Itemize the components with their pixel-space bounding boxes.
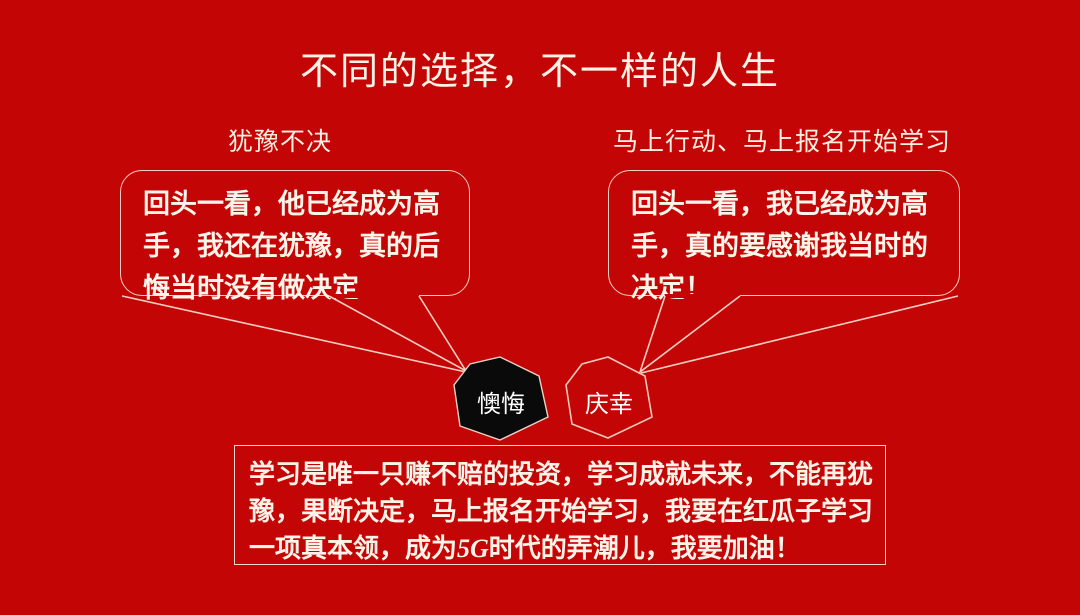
node-label-right: 庆幸 [566, 384, 652, 419]
node-label-left: 懊悔 [458, 384, 544, 419]
bubble-left-tail [329, 296, 466, 371]
summary-box: 学习是唯一只赚不赔的投资，学习成就未来，不能再犹豫，果断决定，马上报名开始学习，… [234, 445, 886, 565]
speech-bubble-right: 回头一看，我已经成为高手，真的要感谢我当时的决定！ [608, 170, 960, 296]
slide-canvas: 不同的选择，不一样的人生 犹豫不决 马上行动、马上报名开始学习 回头一看，他已经… [0, 0, 1080, 615]
summary-text-part2: 时代的弄潮儿，我要加油！ [489, 534, 801, 563]
speech-bubble-left: 回头一看，他已经成为高手，我还在犹豫，真的后悔当时没有做决定 [120, 170, 470, 296]
column-heading-right: 马上行动、马上报名开始学习 [613, 122, 951, 158]
page-title: 不同的选择，不一样的人生 [0, 40, 1080, 95]
column-heading-left: 犹豫不决 [228, 122, 332, 158]
summary-highlight-5g: 5G [457, 534, 489, 563]
